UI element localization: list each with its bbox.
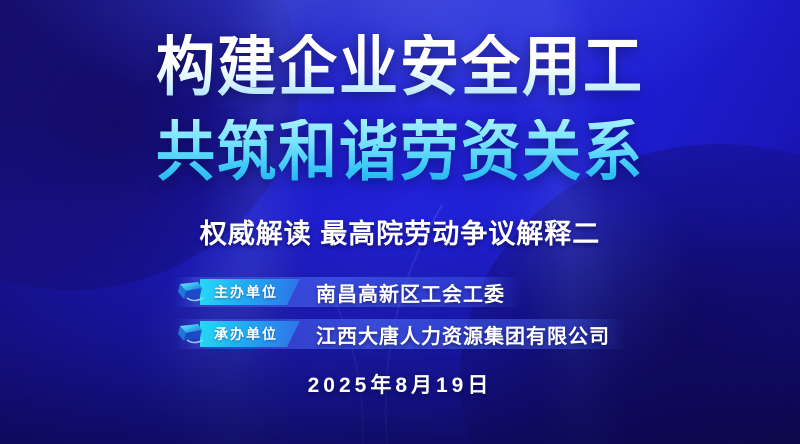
organizer-label-pill-coorganizer: 承办单位 bbox=[200, 321, 300, 347]
poster-subtitle: 权威解读 最高院劳动争议解释二 bbox=[200, 212, 601, 251]
organizer-label-pill-host: 主办单位 bbox=[200, 279, 300, 305]
organizer-row-host: 主办单位 南昌高新区工会工委 bbox=[174, 277, 521, 307]
event-poster: 构建企业安全用工 共筑和谐劳资关系 权威解读 最高院劳动争议解释二 bbox=[0, 0, 800, 444]
organizer-name-coorganizer: 江西大唐人力资源集团有限公司 bbox=[316, 320, 610, 349]
organizer-label-coorganizer: 承办单位 bbox=[214, 324, 278, 344]
organizer-name-host: 南昌高新区工会工委 bbox=[316, 278, 505, 307]
organizer-list: 主办单位 南昌高新区工会工委 bbox=[174, 277, 626, 349]
poster-content: 构建企业安全用工 共筑和谐劳资关系 权威解读 最高院劳动争议解释二 bbox=[0, 0, 800, 444]
event-date: 2025年8月19日 bbox=[308, 369, 493, 399]
poster-title-line-2: 共筑和谐劳资关系 bbox=[156, 119, 644, 185]
ribbon-icon bbox=[176, 321, 206, 347]
organizer-row-coorganizer: 承办单位 江西大唐人力资源集团有限公司 bbox=[174, 319, 626, 349]
poster-title-line-1: 构建企业安全用工 bbox=[156, 34, 644, 100]
ribbon-icon bbox=[176, 279, 206, 305]
organizer-label-host: 主办单位 bbox=[214, 282, 278, 302]
